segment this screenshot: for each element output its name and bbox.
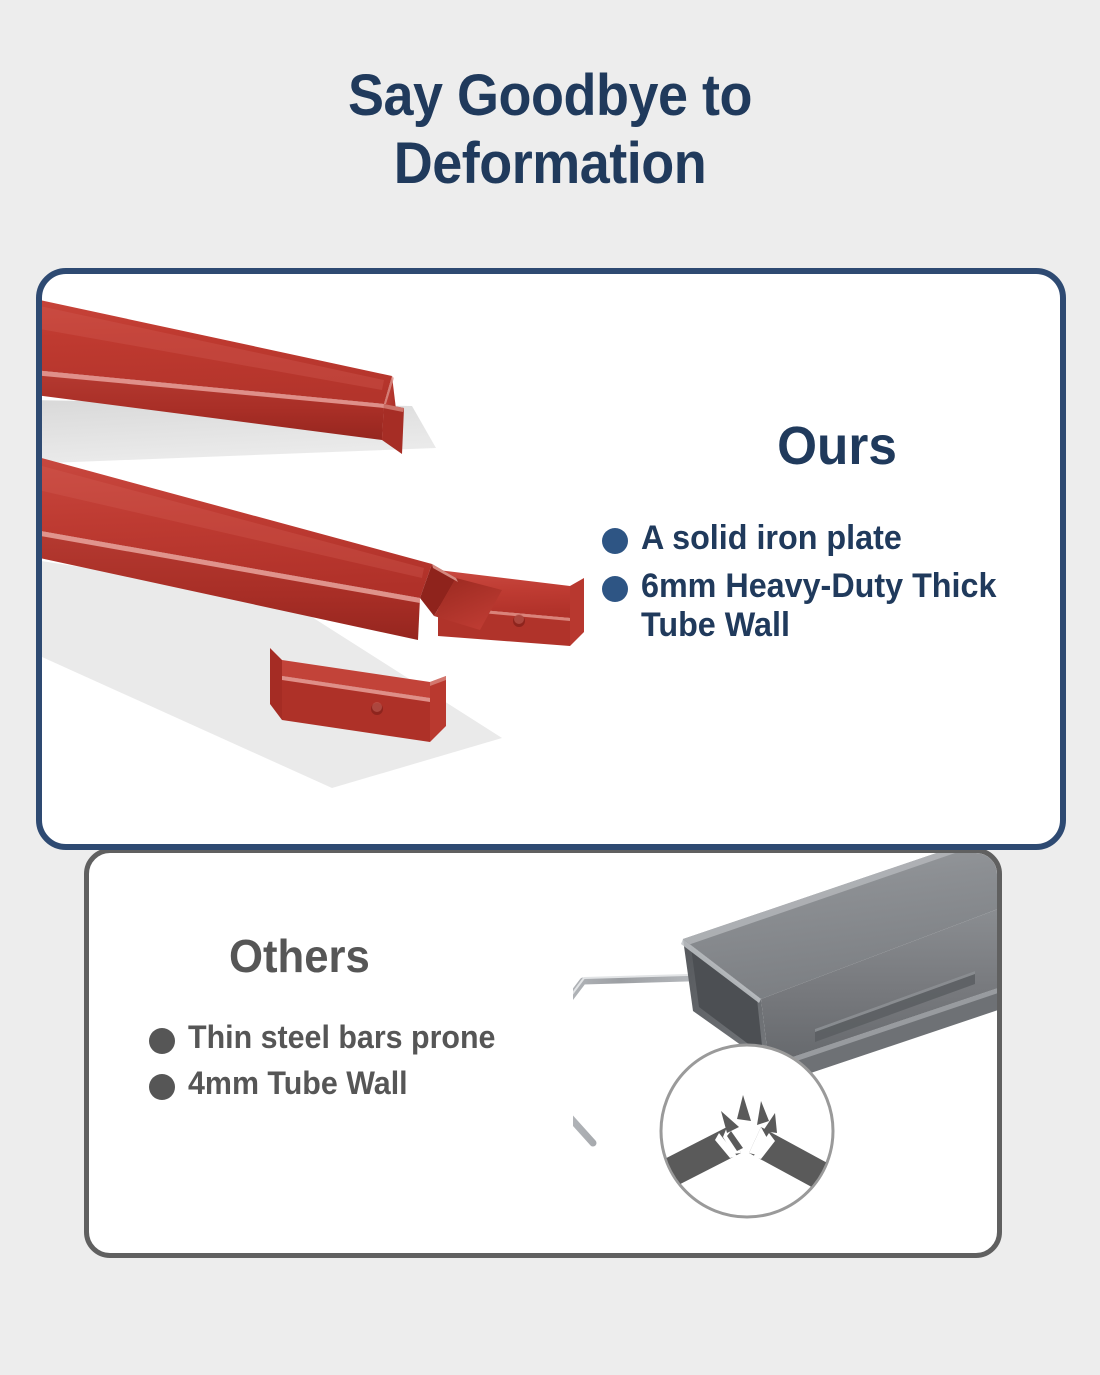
bracket-arm-front-face bbox=[282, 676, 430, 742]
bracket-arm-front-top bbox=[282, 660, 430, 698]
ours-comparison-card: Ours A solid iron plate 6mm Heavy-Duty T… bbox=[36, 268, 1066, 850]
channel-top-face bbox=[36, 450, 432, 598]
list-item: Thin steel bars prone bbox=[149, 1019, 689, 1055]
upper-bar-shadow bbox=[36, 400, 436, 464]
ours-bullet-list: A solid iron plate 6mm Heavy-Duty Thick … bbox=[602, 519, 1052, 644]
bracket-arm-front-cap bbox=[430, 676, 446, 742]
ours-heading: Ours bbox=[652, 419, 1023, 473]
list-item-label: Thin steel bars prone bbox=[188, 1019, 495, 1055]
ours-text-block: Ours A solid iron plate 6mm Heavy-Duty T… bbox=[602, 419, 1052, 654]
bullet-dot-icon bbox=[602, 576, 628, 602]
upper-bar-end-cap bbox=[382, 376, 398, 440]
list-item: 6mm Heavy-Duty Thick Tube Wall bbox=[602, 567, 1052, 644]
magnifier-ring bbox=[661, 1045, 833, 1217]
list-item-label: 4mm Tube Wall bbox=[188, 1065, 408, 1101]
channel-inner-left-wall bbox=[420, 564, 456, 616]
others-comparison-card: Others Thin steel bars prone 4mm Tube Wa… bbox=[84, 848, 1002, 1258]
fracture-callout-magnifier bbox=[657, 1041, 837, 1221]
upper-bar-return-lip bbox=[382, 404, 404, 454]
list-item: A solid iron plate bbox=[602, 519, 1052, 557]
lower-red-channel-beam bbox=[36, 450, 584, 742]
tube-top-face bbox=[683, 853, 1002, 999]
bolt-hole-front bbox=[371, 703, 383, 715]
others-bullet-list: Thin steel bars prone 4mm Tube Wall bbox=[149, 1019, 689, 1101]
upper-red-bar bbox=[36, 294, 404, 454]
bracket-arm-back-top bbox=[438, 570, 570, 618]
list-item-label: 6mm Heavy-Duty Thick Tube Wall bbox=[641, 567, 1031, 644]
tube-hollow-cavity bbox=[691, 947, 763, 1055]
lower-bar-shadow bbox=[36, 558, 502, 788]
bolt-hole-back bbox=[513, 615, 525, 627]
others-heading: Others bbox=[229, 933, 666, 979]
bullet-dot-icon bbox=[149, 1028, 175, 1054]
bullet-dot-icon bbox=[149, 1074, 175, 1100]
page-title: Say Goodbye to Deformation bbox=[39, 62, 1062, 198]
page-title-line-2: Deformation bbox=[39, 130, 1062, 198]
list-item-label: A solid iron plate bbox=[641, 519, 902, 557]
red-steel-channel-beam-illustration bbox=[36, 268, 592, 838]
page-title-line-1: Say Goodbye to bbox=[39, 62, 1062, 130]
tube-slot bbox=[815, 971, 975, 1042]
upper-bar-top-face bbox=[36, 294, 392, 404]
channel-front-face bbox=[36, 526, 420, 640]
bracket-arm-back-face bbox=[438, 606, 570, 646]
channel-inner-floor bbox=[434, 578, 502, 630]
list-item: 4mm Tube Wall bbox=[149, 1065, 689, 1101]
upper-bar-front-face bbox=[36, 368, 384, 440]
bullet-dot-icon bbox=[602, 528, 628, 554]
others-text-block: Others Thin steel bars prone 4mm Tube Wa… bbox=[149, 933, 689, 1111]
bracket-web bbox=[270, 648, 282, 720]
bracket-arm-back-cap bbox=[570, 578, 584, 646]
